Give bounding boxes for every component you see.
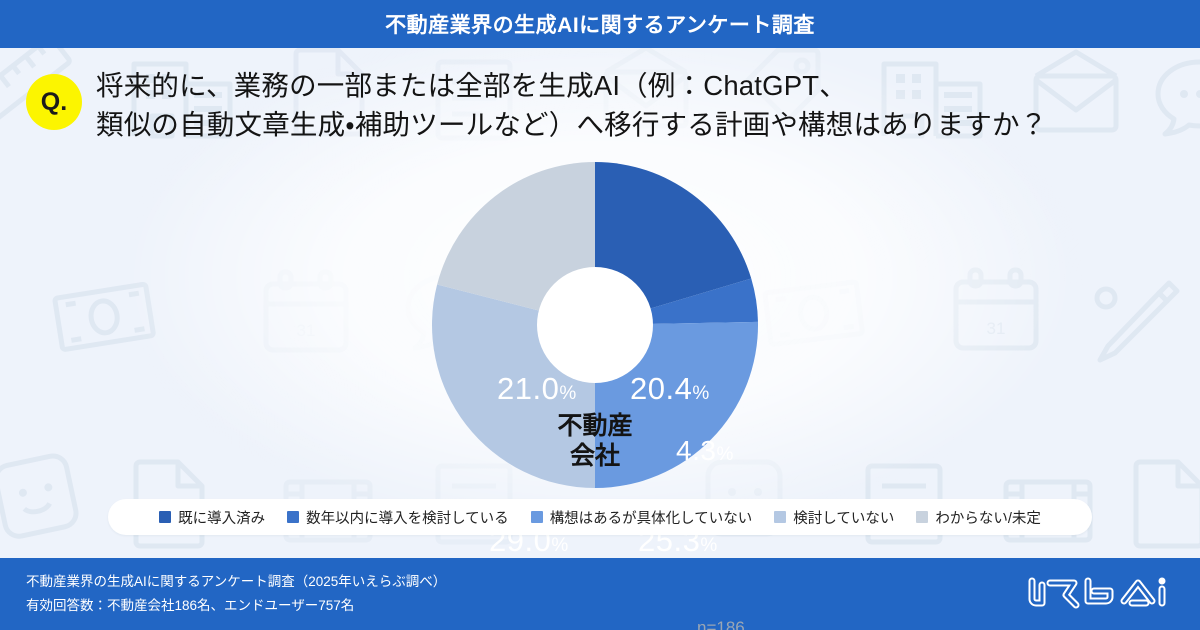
slice-value-0: 20.4 — [630, 371, 692, 406]
question-badge-label: Q. — [41, 90, 67, 115]
slice-value-label-4: 21.0% — [497, 371, 576, 407]
sample-size-label: n=186 — [697, 618, 745, 630]
legend-item-3[interactable]: 検討していない — [774, 507, 894, 528]
legend-label-2: 構想はあるが具体化していない — [550, 507, 753, 528]
chart-legend: 既に導入済み 数年以内に導入を検討している 構想はあるが具体化していない 検討し… — [108, 499, 1092, 535]
footer-line-2: 有効回答数：不動産会社186名、エンドユーザー757名 — [26, 594, 446, 618]
center-label-line-2: 会社 — [541, 442, 649, 472]
legend-label-3: 検討していない — [793, 507, 894, 528]
question-line-2: 類似の自動文章生成・補助ツールなど）へ移行する計画や構想はありますか？ — [96, 105, 1047, 144]
chart-area: 不動産 会社 20.4% 4.3% 25.3% 29.0% 21.0% n=18… — [0, 160, 1200, 490]
ielove-logo[interactable] — [1024, 573, 1174, 615]
donut-hole — [537, 267, 653, 383]
header-bar: 不動産業界の生成AIに関するアンケート調査 — [0, 0, 1200, 48]
legend-label-1: 数年以内に導入を検討している — [306, 507, 509, 528]
legend-item-2[interactable]: 構想はあるが具体化していない — [531, 507, 753, 528]
infographic-page: 31 — [0, 0, 1200, 630]
page-title: 不動産業界の生成AIに関するアンケート調査 — [385, 9, 815, 39]
legend-label-0: 既に導入済み — [178, 507, 265, 528]
legend-item-4[interactable]: わからない/未定 — [916, 507, 1041, 528]
legend-swatch-2 — [531, 511, 543, 523]
legend-swatch-4 — [916, 511, 928, 523]
legend-swatch-3 — [774, 511, 786, 523]
percent-sign-0: % — [692, 383, 709, 404]
percent-sign-1: % — [716, 444, 733, 465]
slice-value-label-0: 20.4% — [630, 371, 709, 407]
footer-bar: 不動産業界の生成AIに関するアンケート調査（2025年いえらぶ調べ） 有効回答数… — [0, 558, 1200, 630]
percent-sign-3: % — [551, 535, 568, 556]
slice-value-4: 21.0 — [497, 371, 559, 406]
question-text: 将来的に、業務の一部または全部を生成AI（例：ChatGPT、 類似の自動文章生… — [96, 66, 1047, 144]
footer-source-text: 不動産業界の生成AIに関するアンケート調査（2025年いえらぶ調べ） 有効回答数… — [26, 570, 446, 617]
legend-item-1[interactable]: 数年以内に導入を検討している — [287, 507, 509, 528]
legend-swatch-0 — [159, 511, 171, 523]
question-badge: Q. — [26, 74, 82, 130]
question-block: Q. 将来的に、業務の一部または全部を生成AI（例：ChatGPT、 類似の自動… — [0, 66, 1200, 166]
legend-label-4: わからない/未定 — [935, 507, 1041, 528]
center-label-line-1: 不動産 — [541, 412, 649, 442]
question-line-1: 将来的に、業務の一部または全部を生成AI（例：ChatGPT、 — [96, 70, 847, 101]
slice-value-label-1: 4.3% — [676, 435, 733, 467]
slice-value-1: 4.3 — [676, 435, 716, 466]
legend-swatch-1 — [287, 511, 299, 523]
percent-sign-4: % — [559, 383, 576, 404]
legend-item-0[interactable]: 既に導入済み — [159, 507, 265, 528]
percent-sign-2: % — [700, 535, 717, 556]
footer-line-1: 不動産業界の生成AIに関するアンケート調査（2025年いえらぶ調べ） — [26, 570, 446, 594]
donut-center-label: 不動産 会社 — [541, 412, 649, 471]
